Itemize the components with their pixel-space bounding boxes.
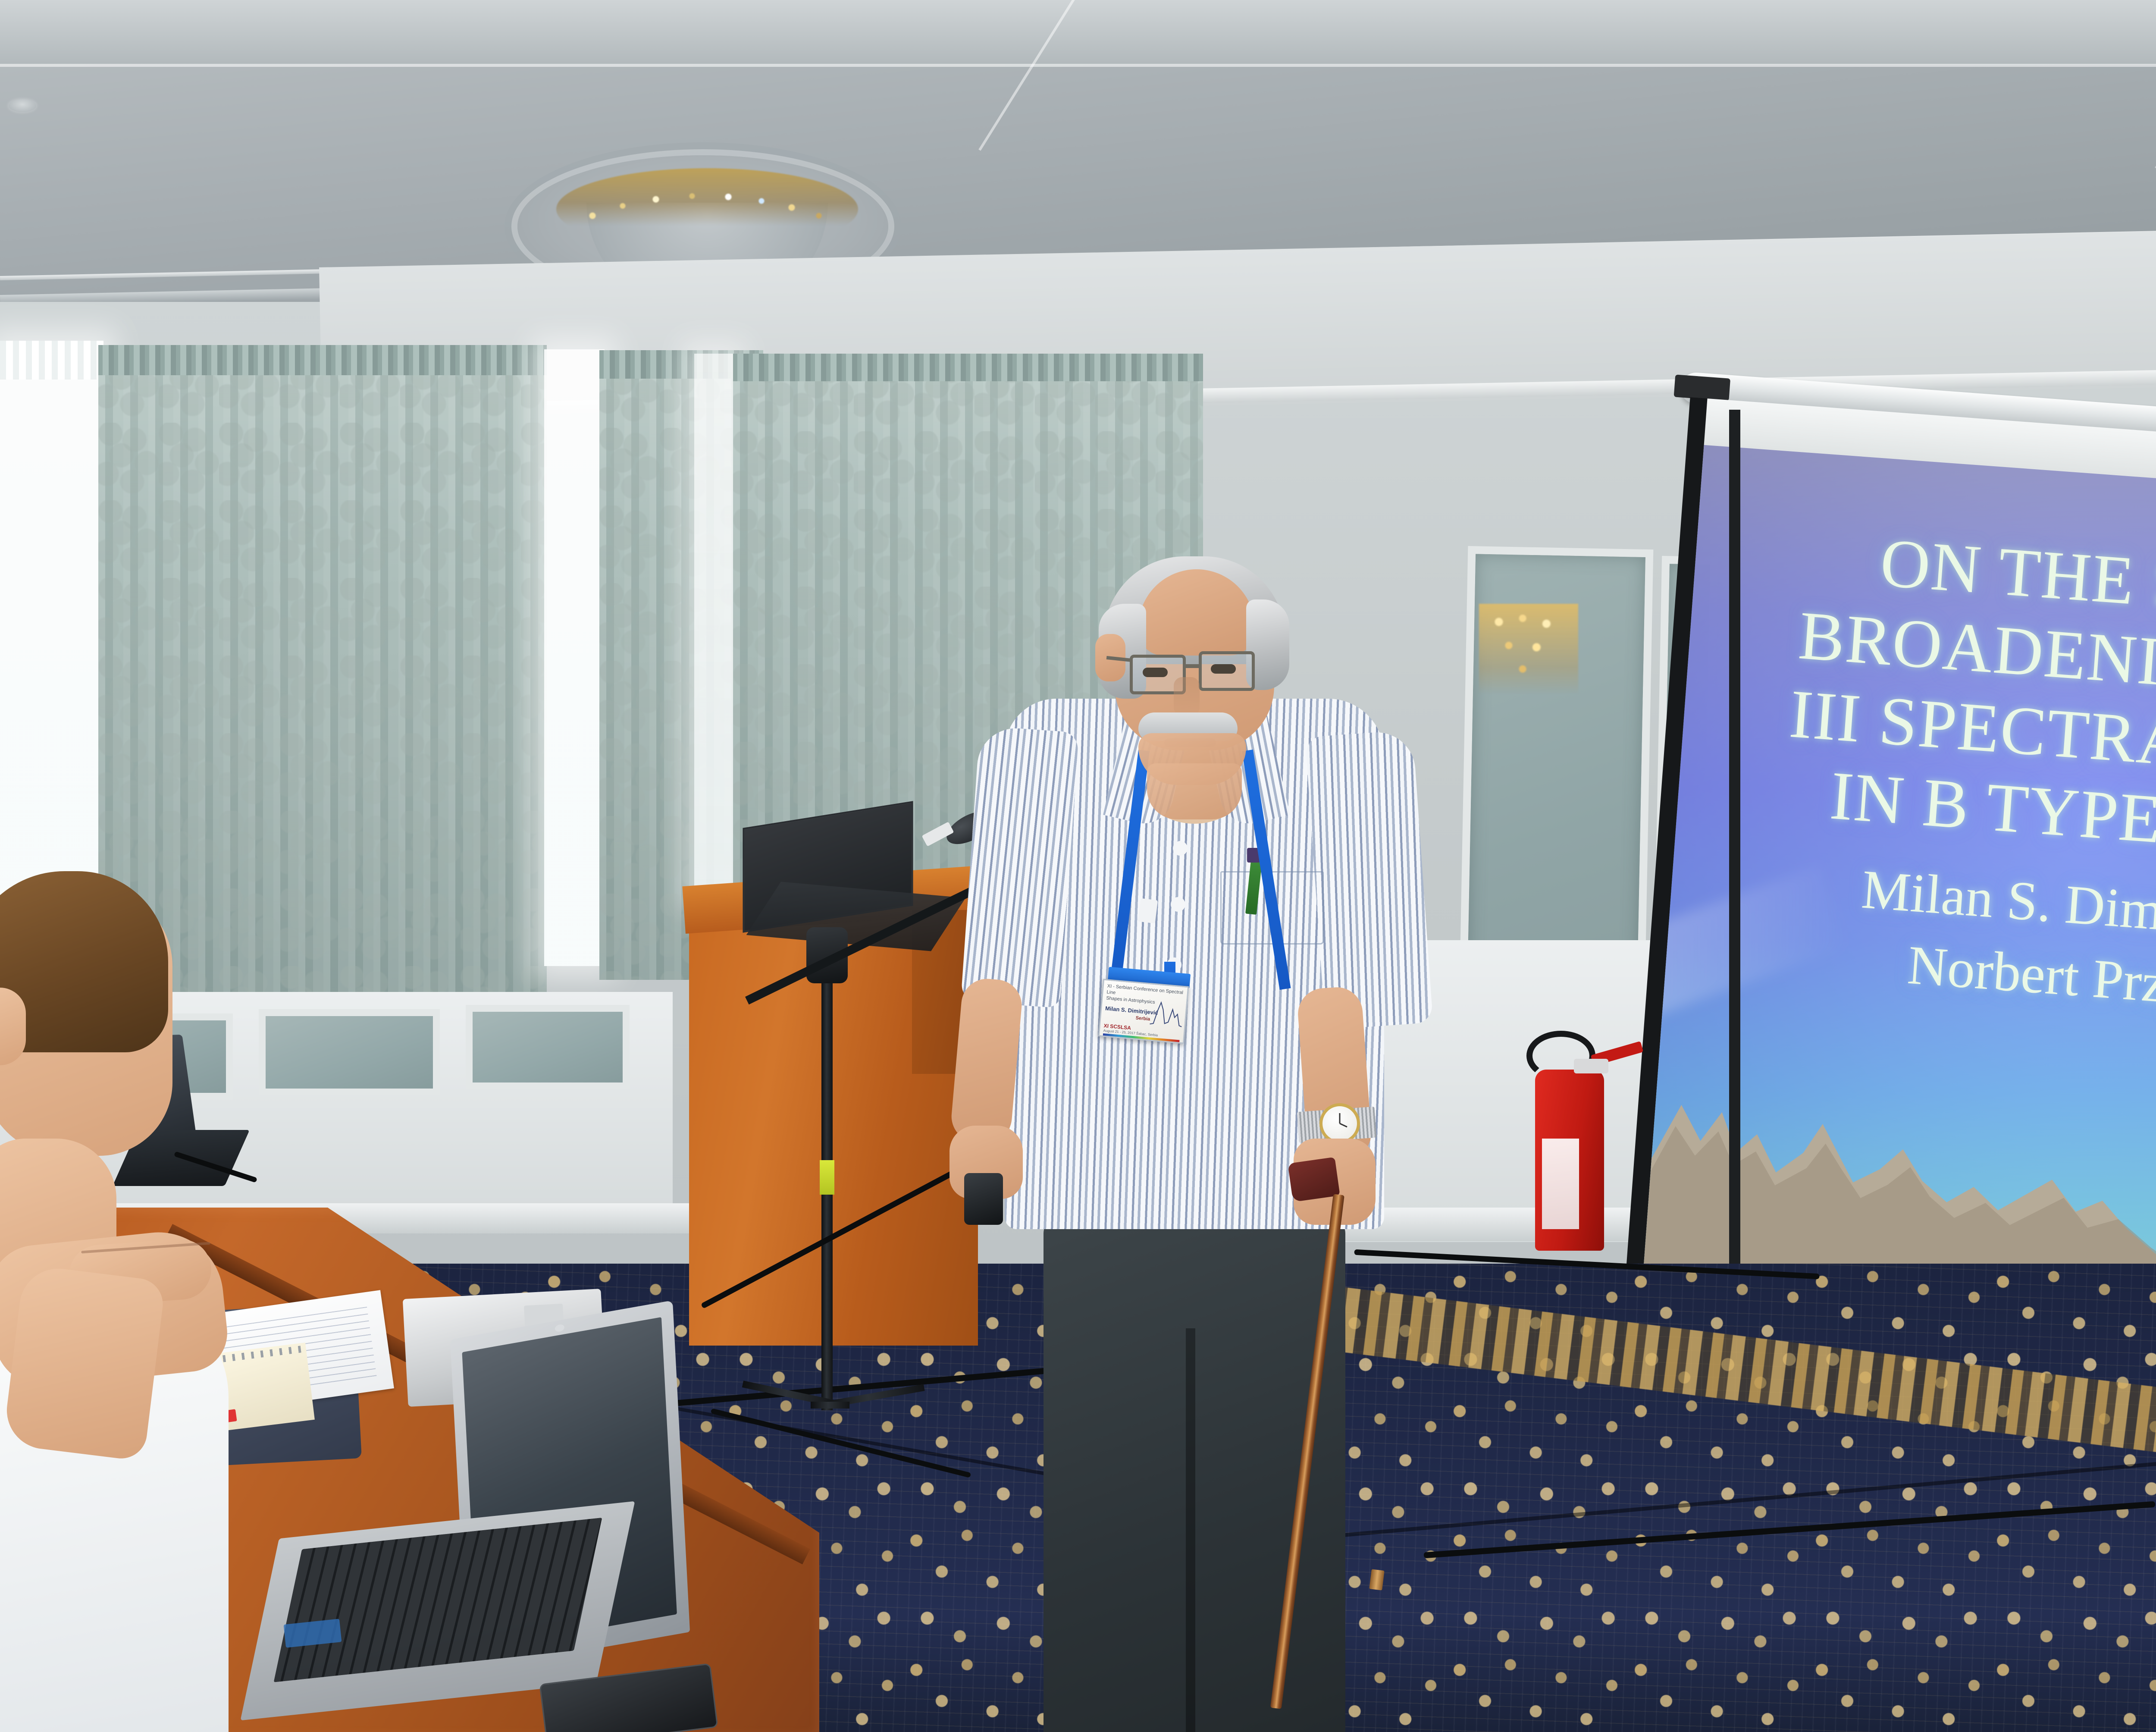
curtain-left-header — [98, 345, 547, 375]
sheer-curtain-right — [694, 354, 733, 897]
presenter-eye-left — [1143, 668, 1168, 677]
presentation-clicker[interactable] — [964, 1173, 1003, 1225]
conference-room-photograph: ON THE STARK BROADENING OF Si III SPECTR… — [0, 0, 2156, 1732]
presenter-trouser-crease — [1186, 1328, 1195, 1732]
wristwatch-face — [1319, 1103, 1360, 1144]
wall-panel-left-2 — [259, 1009, 440, 1095]
sheer-curtain-middle — [544, 349, 605, 966]
laptop-webcam-icon — [555, 1324, 564, 1332]
microphone-stand-tape-marker — [820, 1160, 834, 1195]
chandelier-crystal-ring-icon — [556, 168, 858, 250]
lanyard-slider — [1138, 898, 1158, 923]
screen-roller-bracket — [1674, 374, 1730, 401]
sheer-curtain-header — [0, 341, 103, 380]
presenter-nose — [1174, 677, 1200, 716]
presenter-sleeve-right — [1305, 730, 1433, 1030]
fire-extinguisher-label — [1542, 1139, 1579, 1229]
curtain-right-header — [733, 354, 1203, 381]
screen-stand-post — [1729, 410, 1740, 1350]
wall-sconce-icon — [1479, 604, 1578, 694]
microphone-tripod-leg-3 — [811, 1402, 849, 1409]
eyeglasses-bridge — [1185, 664, 1200, 668]
fire-extinguisher — [1535, 1070, 1604, 1251]
attendee-forearm — [3, 1264, 166, 1461]
wall-panel-left-3 — [466, 1005, 630, 1089]
presenter-sleeve-left — [961, 726, 1079, 1008]
cane-grip — [1288, 1157, 1340, 1202]
curtain-left — [98, 345, 547, 1001]
ceiling-seam — [0, 64, 2156, 67]
badge-spectrum-graph-icon — [1149, 999, 1185, 1029]
projected-slide: ON THE STARK BROADENING OF Si III SPECTR… — [1643, 445, 2156, 1339]
fire-extinguisher-gauge — [1574, 1059, 1608, 1073]
projection-screen: ON THE STARK BROADENING OF Si III SPECTR… — [1601, 371, 2156, 1415]
ceiling-vent-icon — [9, 99, 36, 112]
cane-ferrule — [1369, 1569, 1384, 1590]
presenter-neck — [1147, 763, 1242, 819]
shirt-button-2 — [1171, 897, 1185, 912]
presenter-eye-right — [1211, 664, 1236, 674]
shirt-button-1 — [1173, 841, 1188, 856]
laptop-keyboard[interactable] — [274, 1518, 602, 1682]
name-badge: XI - Serbian Conference on Spectral Line… — [1098, 979, 1189, 1044]
ceiling-upper-band — [0, 0, 2156, 65]
